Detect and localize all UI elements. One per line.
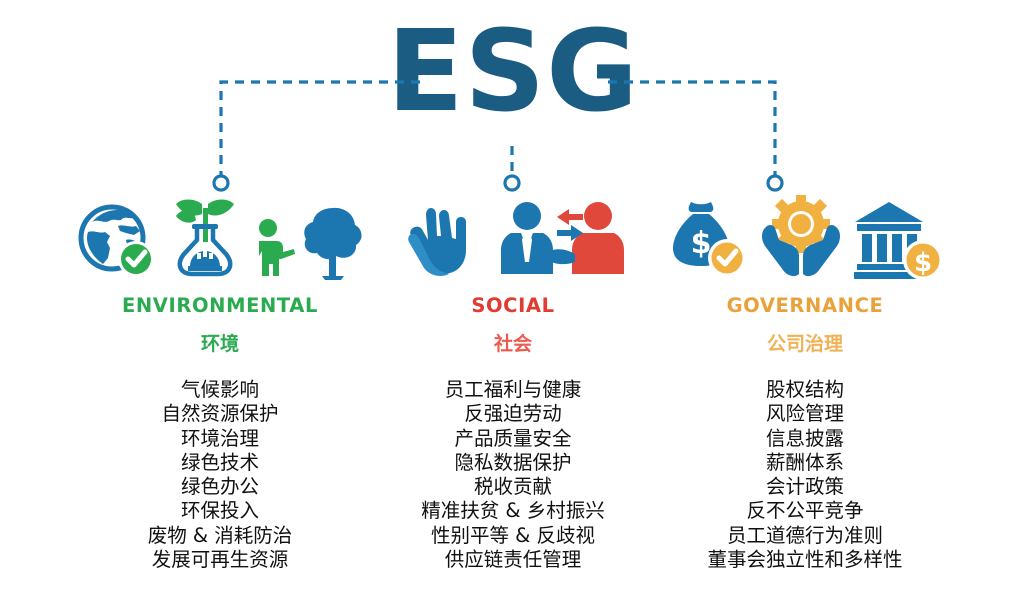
- list-item: 绿色技术: [55, 451, 385, 475]
- flask-plant-gear-icon: [164, 194, 246, 280]
- list-item: 废物 & 消耗防治: [55, 524, 385, 548]
- list-item: 反强迫劳动: [348, 402, 678, 426]
- list-social: 员工福利与健康 反强迫劳动 产品质量安全 隐私数据保护 税收贡献 精准扶贫 & …: [348, 378, 678, 572]
- list-item: 员工道德行为准则: [640, 524, 970, 548]
- list-item: 环保投入: [55, 499, 385, 523]
- icon-row-social: [348, 192, 678, 280]
- list-item: 气候影响: [55, 378, 385, 402]
- handshake-exchange-icon: [497, 200, 625, 280]
- list-item: 产品质量安全: [348, 427, 678, 451]
- list-item: 会计政策: [640, 475, 970, 499]
- globe-check-icon: [74, 200, 160, 280]
- list-item: 信息披露: [640, 427, 970, 451]
- heading-social-cn: 社会: [348, 329, 678, 356]
- connector-ring-center: [505, 176, 519, 190]
- list-item: 税收贡献: [348, 475, 678, 499]
- list-governance: 股权结构 风险管理 信息披露 薪酬体系 会计政策 反不公平竞争 员工道德行为准则…: [640, 378, 970, 572]
- column-environmental: ENVIRONMENTAL 环境 气候影响 自然资源保护 环境治理 绿色技术 绿…: [55, 192, 385, 588]
- heading-governance-en: GOVERNANCE: [640, 294, 970, 317]
- column-social: SOCIAL 社会 员工福利与健康 反强迫劳动 产品质量安全 隐私数据保护 税收…: [348, 192, 678, 588]
- heading-governance-cn: 公司治理: [640, 329, 970, 356]
- column-governance: $: [640, 192, 970, 588]
- person-pointing-icon: [250, 218, 296, 280]
- helping-hands-icon: [401, 206, 493, 280]
- icon-row-environmental: [55, 192, 385, 280]
- page-title: ESG: [0, 14, 1026, 132]
- list-item: 性别平等 & 反歧视: [348, 524, 678, 548]
- heading-environmental-cn: 环境: [55, 329, 385, 356]
- list-item: 精准扶贫 & 乡村振兴: [348, 499, 678, 523]
- list-item: 绿色办公: [55, 475, 385, 499]
- list-environmental: 气候影响 自然资源保护 环境治理 绿色技术 绿色办公 环保投入 废物 & 消耗防…: [55, 378, 385, 572]
- icon-row-governance: $: [640, 192, 970, 280]
- list-item: 反不公平竞争: [640, 499, 970, 523]
- list-item: 自然资源保护: [55, 402, 385, 426]
- list-item: 供应链责任管理: [348, 548, 678, 572]
- heading-environmental-en: ENVIRONMENTAL: [55, 294, 385, 317]
- bank-dollar-icon: $: [853, 200, 941, 280]
- svg-text:$: $: [914, 248, 932, 278]
- list-item: 风险管理: [640, 402, 970, 426]
- connector-ring-left: [214, 176, 228, 190]
- list-item: 发展可再生资源: [55, 548, 385, 572]
- list-item: 隐私数据保护: [348, 451, 678, 475]
- money-bag-check-icon: $: [669, 198, 749, 280]
- list-item: 股权结构: [640, 378, 970, 402]
- connector-ring-right: [768, 176, 782, 190]
- list-item: 薪酬体系: [640, 451, 970, 475]
- esg-infographic: ESG: [0, 0, 1026, 591]
- hands-gear-icon: [753, 194, 849, 280]
- list-item: 员工福利与健康: [348, 378, 678, 402]
- heading-social-en: SOCIAL: [348, 294, 678, 317]
- list-item: 环境治理: [55, 427, 385, 451]
- list-item: 董事会独立性和多样性: [640, 548, 970, 572]
